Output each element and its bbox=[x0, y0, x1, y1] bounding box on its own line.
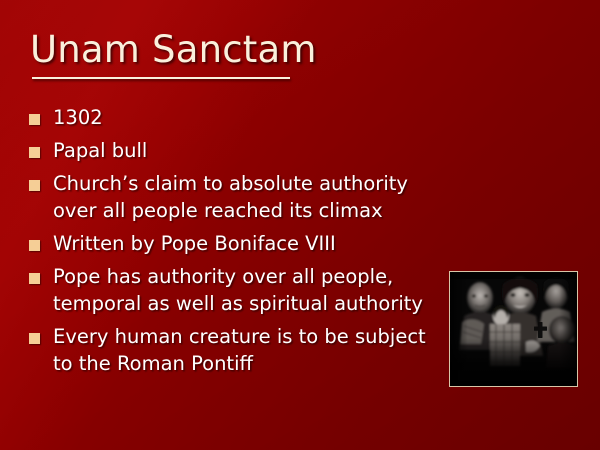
list-item-label: Written by Pope Boniface VIII bbox=[53, 230, 449, 257]
slide-photo bbox=[449, 271, 578, 387]
list-item: Pope has authority over all people, temp… bbox=[29, 263, 449, 317]
square-bullet-icon bbox=[29, 180, 40, 191]
list-item-label: Church’s claim to absolute authority ove… bbox=[53, 170, 449, 224]
list-item-label: Papal bull bbox=[53, 137, 449, 164]
square-bullet-icon bbox=[29, 273, 40, 284]
presentation-slide: Unam Sanctam 1302 Papal bull Church’s cl… bbox=[0, 0, 600, 450]
list-item-label: 1302 bbox=[53, 104, 449, 131]
square-bullet-icon bbox=[29, 147, 40, 158]
list-item: Church’s claim to absolute authority ove… bbox=[29, 170, 449, 224]
square-bullet-icon bbox=[29, 240, 40, 251]
list-item: Written by Pope Boniface VIII bbox=[29, 230, 449, 257]
list-item: Every human creature is to be subject to… bbox=[29, 323, 449, 377]
slide-title: Unam Sanctam bbox=[30, 28, 570, 72]
title-underline bbox=[32, 77, 290, 79]
list-item: Papal bull bbox=[29, 137, 449, 164]
square-bullet-icon bbox=[29, 333, 40, 344]
bullet-list: 1302 Papal bull Church’s claim to absolu… bbox=[29, 104, 449, 383]
square-bullet-icon bbox=[29, 114, 40, 125]
list-item-label: Pope has authority over all people, temp… bbox=[53, 263, 449, 317]
list-item-label: Every human creature is to be subject to… bbox=[53, 323, 449, 377]
photo-image bbox=[450, 272, 577, 386]
list-item: 1302 bbox=[29, 104, 449, 131]
